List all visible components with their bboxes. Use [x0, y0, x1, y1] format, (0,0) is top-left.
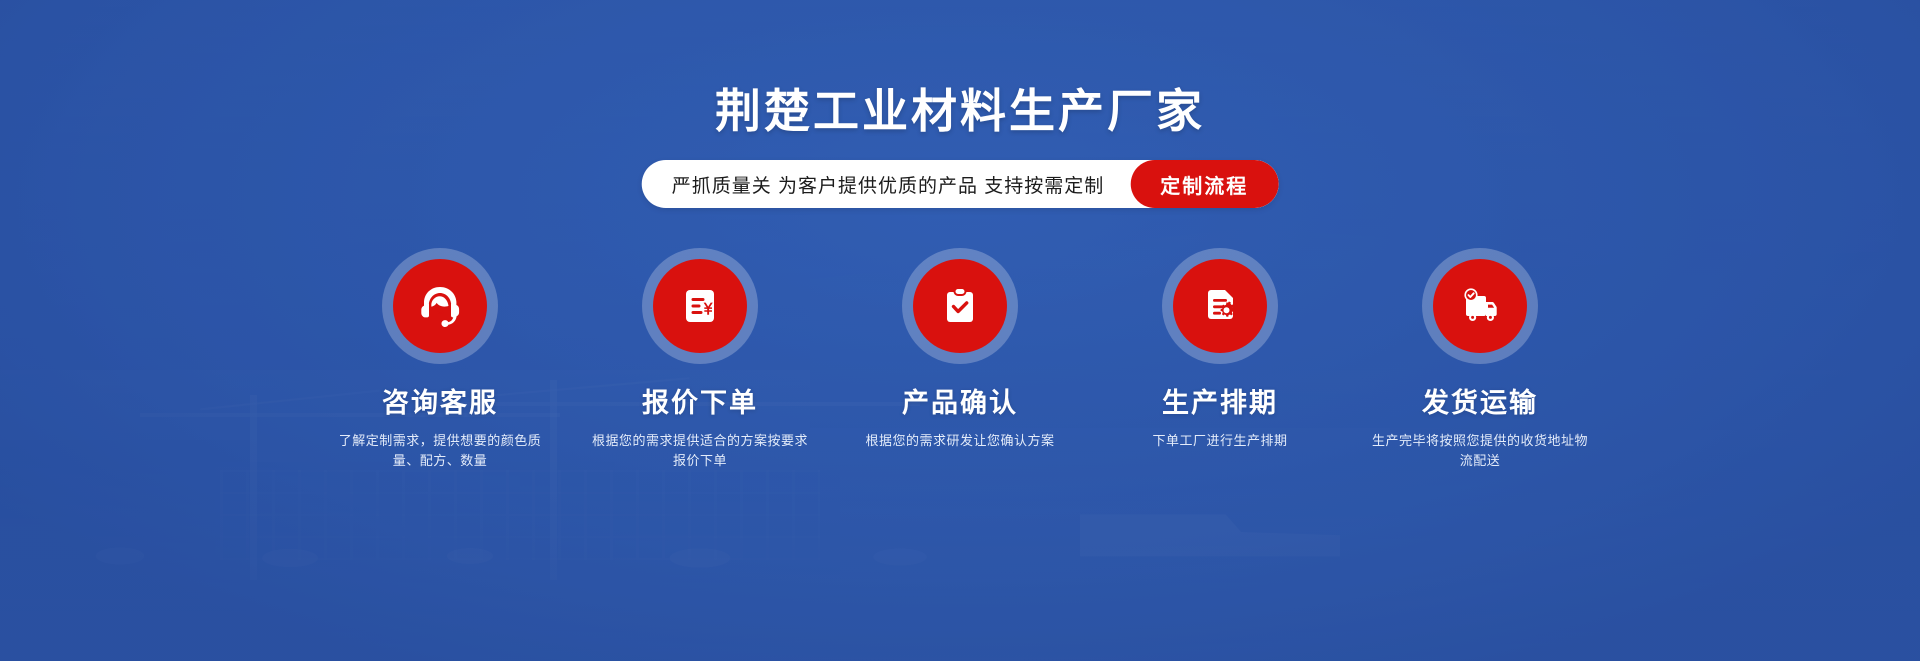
tagline-text: 严抓质量关 为客户提供优质的产品 支持按需定制 — [642, 160, 1131, 208]
step-icon-circle — [913, 259, 1007, 353]
step-icon-ring[interactable] — [902, 248, 1018, 364]
process-step[interactable]: 报价下单 根据您的需求提供适合的方案按要求报价下单 — [575, 248, 825, 471]
step-title: 产品确认 — [902, 390, 1018, 417]
step-description: 下单工厂进行生产排期 — [1152, 431, 1287, 451]
step-icon-ring[interactable] — [642, 248, 758, 364]
step-description: 根据您的需求研发让您确认方案 — [865, 431, 1054, 451]
process-step[interactable]: 咨询客服 了解定制需求，提供想要的颜色质量、配方、数量 — [315, 248, 565, 471]
clipboard-check-icon — [936, 282, 984, 330]
step-icon-circle — [653, 259, 747, 353]
process-step[interactable]: 产品确认 根据您的需求研发让您确认方案 — [835, 248, 1085, 471]
step-title: 发货运输 — [1422, 390, 1538, 417]
tagline-pill: 严抓质量关 为客户提供优质的产品 支持按需定制 定制流程 — [642, 160, 1279, 208]
headset-support-icon — [416, 282, 464, 330]
custom-process-button[interactable]: 定制流程 — [1130, 160, 1278, 208]
process-step[interactable]: 发货运输 生产完毕将按照您提供的收货地址物流配送 — [1355, 248, 1605, 471]
step-description: 根据您的需求提供适合的方案按要求报价下单 — [590, 431, 810, 471]
invoice-yuan-icon — [676, 282, 724, 330]
process-steps: 咨询客服 了解定制需求，提供想要的颜色质量、配方、数量 — [315, 248, 1605, 471]
step-description: 生产完毕将按照您提供的收货地址物流配送 — [1370, 431, 1590, 471]
process-step[interactable]: 生产排期 下单工厂进行生产排期 — [1095, 248, 1345, 471]
step-title: 咨询客服 — [382, 390, 498, 417]
step-icon-ring[interactable] — [1162, 248, 1278, 364]
step-icon-circle — [1173, 259, 1267, 353]
document-gear-icon — [1196, 282, 1244, 330]
promo-banner: 荆楚工业材料生产厂家 严抓质量关 为客户提供优质的产品 支持按需定制 定制流程 — [0, 0, 1920, 661]
step-icon-circle — [1433, 259, 1527, 353]
delivery-truck-check-icon — [1456, 282, 1504, 330]
step-description: 了解定制需求，提供想要的颜色质量、配方、数量 — [330, 431, 550, 471]
step-icon-ring[interactable] — [382, 248, 498, 364]
page-title: 荆楚工业材料生产厂家 — [0, 88, 1920, 134]
step-title: 报价下单 — [642, 390, 758, 417]
step-icon-ring[interactable] — [1422, 248, 1538, 364]
step-title: 生产排期 — [1162, 390, 1278, 417]
step-icon-circle — [393, 259, 487, 353]
banner-content: 荆楚工业材料生产厂家 严抓质量关 为客户提供优质的产品 支持按需定制 定制流程 — [0, 0, 1920, 661]
